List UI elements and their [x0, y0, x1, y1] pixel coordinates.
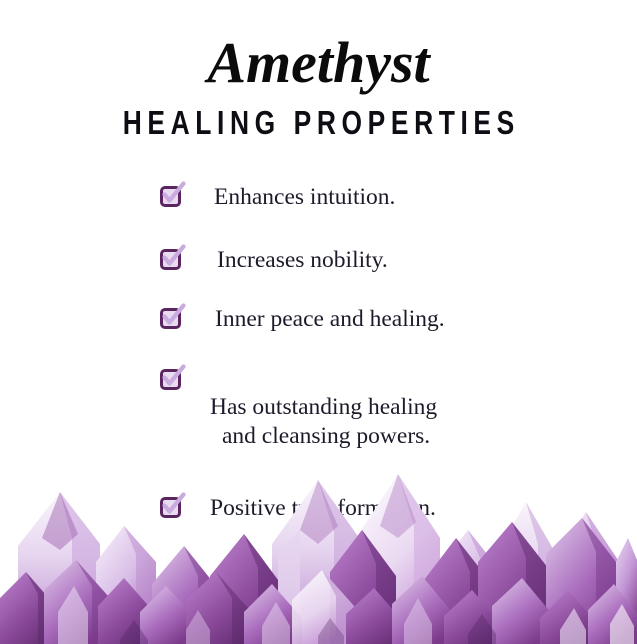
checked-checkbox-icon — [160, 369, 181, 390]
checked-checkbox-icon — [160, 308, 181, 329]
checkmark-glyph — [160, 303, 187, 330]
list-item: Inner peace and healing. — [160, 304, 637, 335]
crystal-illustration — [0, 434, 637, 644]
list-item-label: Inner peace and healing. — [215, 304, 445, 335]
checkmark-glyph — [160, 364, 187, 391]
checked-checkbox-icon — [160, 186, 181, 207]
page-title: Amethyst — [0, 34, 637, 92]
list-item: Increases nobility. — [160, 245, 637, 276]
header: Amethyst HEALING PROPERTIES — [0, 0, 637, 139]
checked-checkbox-icon — [160, 249, 181, 270]
page-subtitle: HEALING PROPERTIES — [64, 106, 574, 139]
checkmark-glyph — [160, 244, 187, 271]
list-item-label: Increases nobility. — [217, 245, 388, 276]
poster-canvas: Amethyst HEALING PROPERTIES Enhances int… — [0, 0, 637, 644]
checkmark-glyph — [160, 181, 187, 208]
list-item: Enhances intuition. — [160, 182, 637, 213]
list-item-label-line1: Has outstanding healing — [210, 394, 437, 420]
amethyst-crystal-cluster-image — [0, 434, 637, 644]
list-item-label: Enhances intuition. — [214, 182, 395, 213]
